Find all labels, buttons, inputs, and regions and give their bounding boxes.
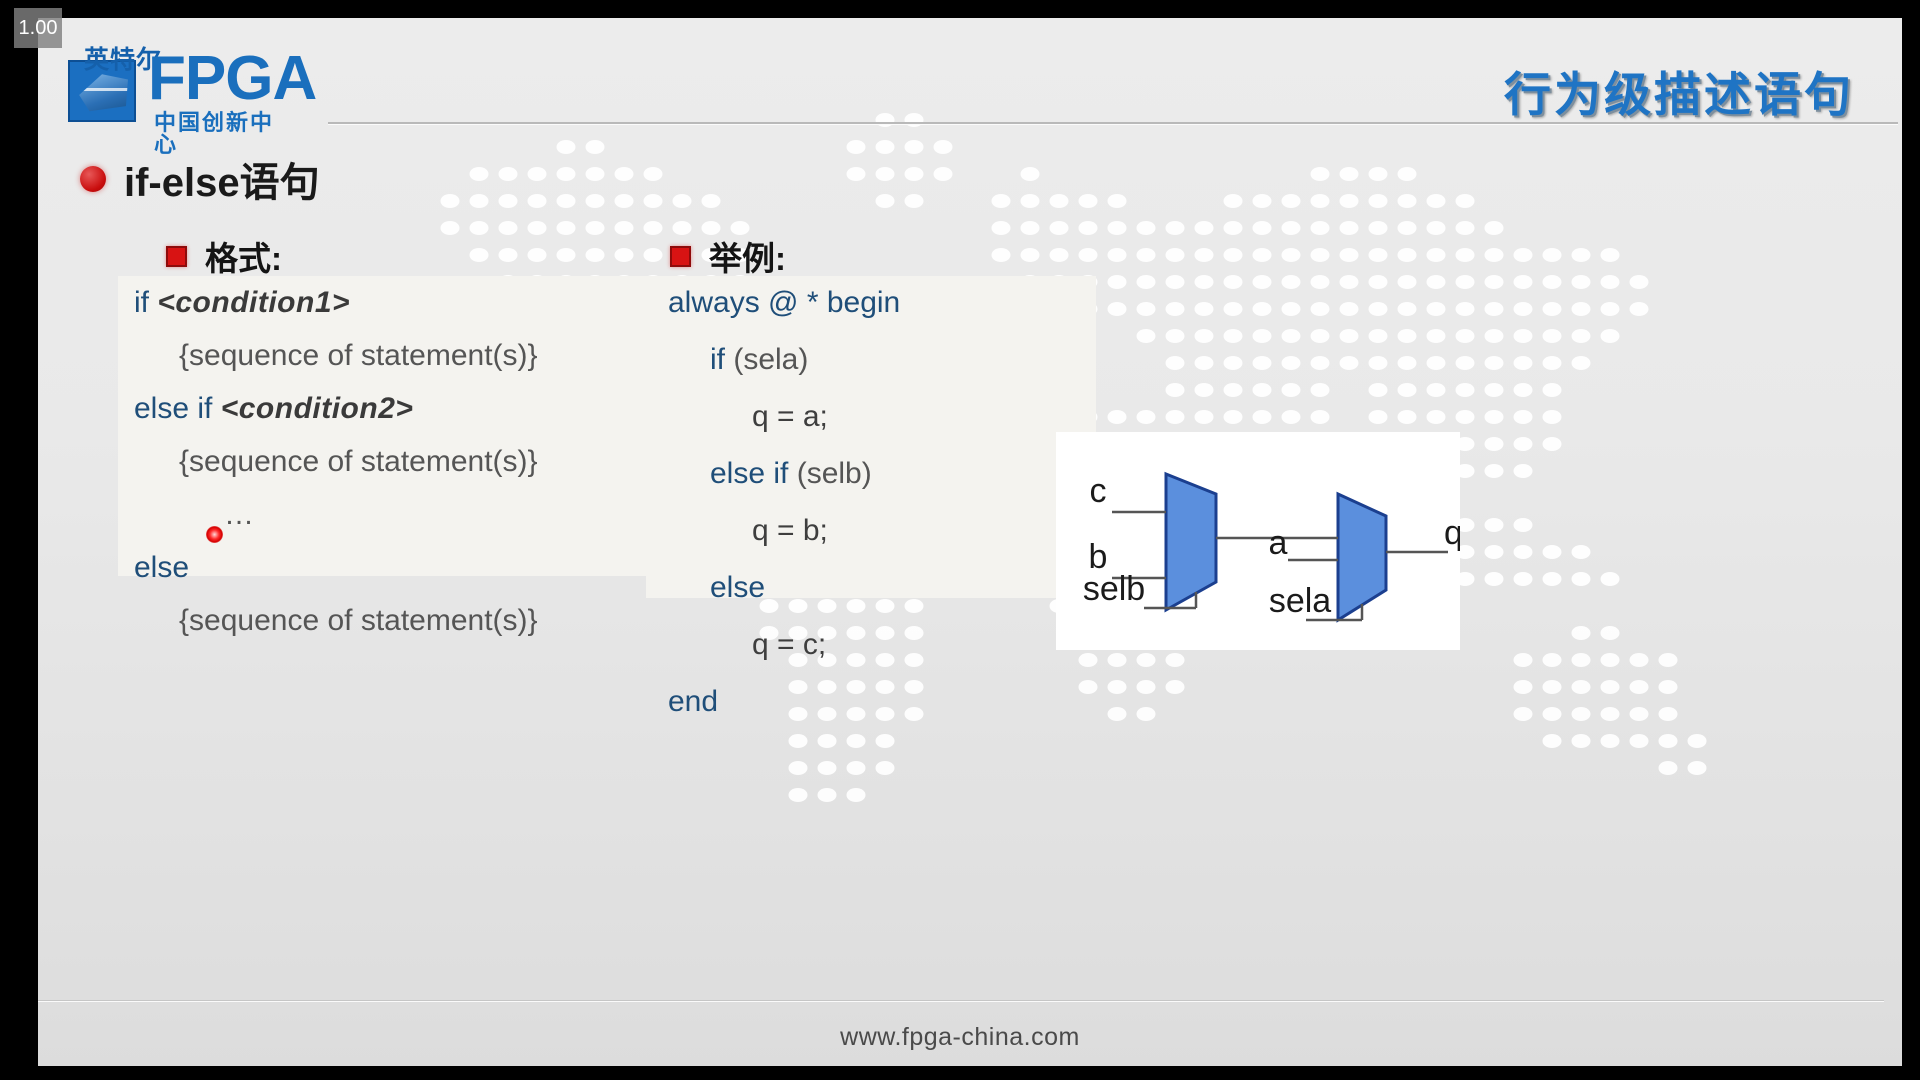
- code-token: {sequence of statement(s)}: [179, 445, 538, 478]
- mux-port-label: sela: [1269, 582, 1331, 620]
- code-line: {sequence of statement(s)}: [179, 339, 538, 373]
- code-token: if: [134, 286, 157, 319]
- code-token: <condition2>: [221, 392, 414, 425]
- logo-wordmark: FPGA: [148, 48, 316, 110]
- code-token: end: [668, 685, 718, 718]
- code-line: q = a;: [752, 400, 828, 434]
- mux-body: [1166, 474, 1216, 610]
- topic-heading: if-else语句: [80, 150, 320, 208]
- code-line: if (sela): [710, 343, 808, 377]
- code-token: q = a;: [752, 400, 828, 433]
- round-bullet-icon: [80, 166, 106, 192]
- page-title: 行为级描述语句: [1504, 56, 1854, 125]
- code-line: end: [668, 685, 718, 719]
- laser-pointer-dot: [206, 526, 223, 543]
- code-token: {sequence of statement(s)}: [179, 604, 538, 637]
- code-line: else: [710, 571, 765, 605]
- code-line: else: [134, 551, 189, 585]
- code-token: else: [710, 571, 765, 604]
- section-heading-format-label: 格式:: [205, 232, 282, 280]
- code-token: (sela): [733, 343, 808, 376]
- footer-url: www.fpga-china.com: [0, 1023, 1920, 1052]
- mux-body: [1338, 494, 1386, 620]
- mux-port-label: selb: [1083, 570, 1145, 608]
- slide-canvas: 英特尔 FPGA 中国创新中心 行为级描述语句 if-else语句 格式: 举例…: [0, 0, 1920, 1080]
- code-token: …: [224, 498, 254, 531]
- code-token: q = b;: [752, 514, 828, 547]
- code-line: q = c;: [752, 628, 826, 662]
- code-token: else if: [134, 392, 221, 425]
- code-line: {sequence of statement(s)}: [179, 604, 538, 638]
- slide-header: 英特尔 FPGA 中国创新中心 行为级描述语句: [38, 18, 1902, 128]
- square-bullet-icon: [166, 246, 187, 267]
- section-heading-format: 格式:: [166, 232, 282, 280]
- footer-divider: [38, 1000, 1884, 1002]
- zoom-level-badge: 1.00: [14, 8, 62, 48]
- letterbox-left: [0, 0, 38, 1080]
- code-token: {sequence of statement(s)}: [179, 339, 538, 372]
- code-line: q = b;: [752, 514, 828, 548]
- code-token: (selb): [797, 457, 872, 490]
- code-line: else if <condition2>: [134, 392, 413, 426]
- code-token: else if: [710, 457, 797, 490]
- code-token: <condition1>: [157, 286, 350, 319]
- code-token: else: [134, 551, 189, 584]
- code-line: …: [224, 498, 254, 532]
- code-token: always @ * begin: [668, 286, 900, 319]
- square-bullet-icon: [670, 246, 691, 267]
- code-token: q = c;: [752, 628, 826, 661]
- mux-port-label: a: [1269, 524, 1288, 562]
- mux-port-label: q: [1444, 514, 1460, 552]
- example-code-panel: [646, 276, 1096, 598]
- code-line: else if (selb): [710, 457, 872, 491]
- code-line: always @ * begin: [668, 286, 900, 320]
- two-stage-mux-diagram: cbselbaselaq: [1056, 432, 1460, 650]
- code-line: {sequence of statement(s)}: [179, 445, 538, 479]
- code-line: if <condition1>: [134, 286, 350, 320]
- slide-body: if-else语句 格式: 举例: if <condition1>{sequen…: [38, 128, 1902, 958]
- fpga-china-logo: 英特尔 FPGA 中国创新中心: [60, 32, 290, 124]
- section-heading-example-label: 举例:: [709, 232, 786, 280]
- code-token: if: [710, 343, 733, 376]
- mux-port-label: c: [1090, 472, 1107, 510]
- letterbox-right: [1902, 0, 1920, 1080]
- topic-heading-label: if-else语句: [124, 150, 320, 208]
- format-code-panel: [118, 276, 658, 576]
- letterbox-bottom: [0, 1066, 1920, 1080]
- letterbox-top: [0, 0, 1920, 18]
- section-heading-example: 举例:: [670, 232, 786, 280]
